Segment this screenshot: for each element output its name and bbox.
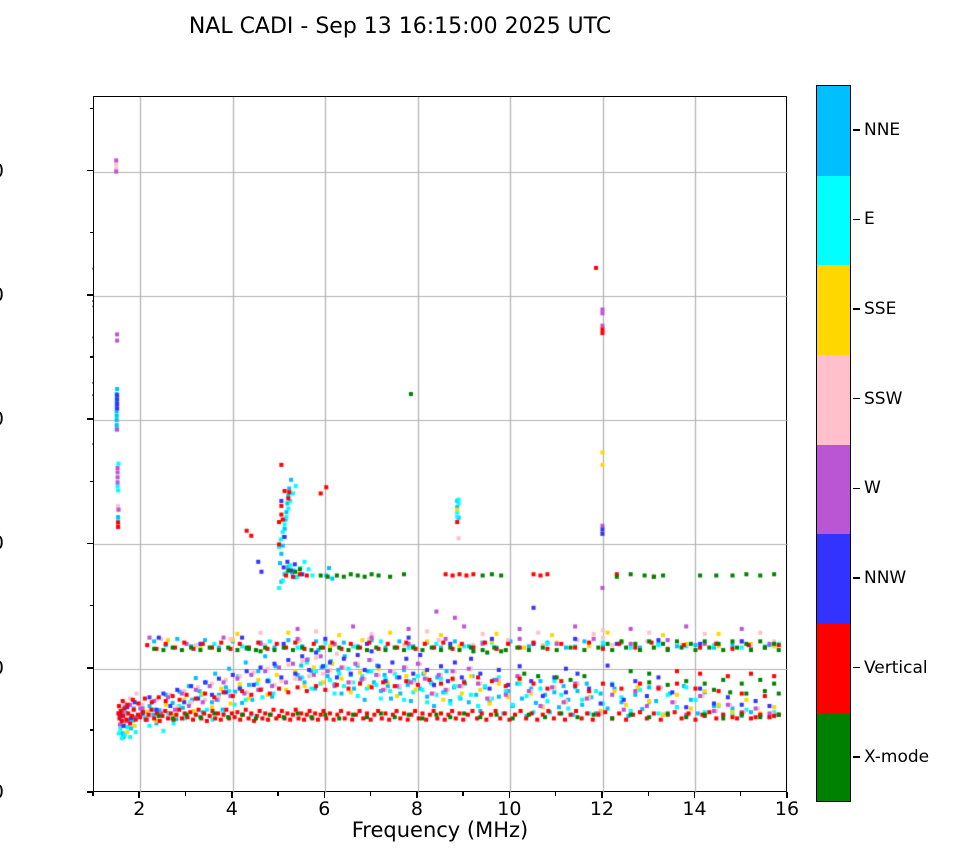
x-tick-minor (648, 792, 649, 796)
colorbar-tick (853, 129, 860, 131)
colorbar[interactable] (816, 85, 851, 802)
x-tick-mark (416, 792, 418, 798)
colorbar-label-e: E (864, 209, 875, 229)
x-tick-mark (601, 792, 603, 798)
x-tick-label: 2 (99, 798, 179, 820)
page-title: NAL CADI - Sep 13 16:15:00 2025 UTC (0, 14, 800, 39)
y-tick-label: 200 (0, 657, 4, 679)
colorbar-label-nne: NNE (864, 120, 900, 140)
colorbar-segment-e[interactable] (817, 176, 850, 266)
colorbar-segment-sse[interactable] (817, 265, 850, 355)
colorbar-tick (853, 756, 860, 758)
colorbar-label-nnw: NNW (864, 568, 906, 588)
x-tick-minor (185, 792, 186, 796)
colorbar-segment-nne[interactable] (817, 86, 850, 176)
colorbar-segment-x-mode[interactable] (817, 713, 850, 802)
colorbar-tick (853, 398, 860, 400)
x-tick-mark (786, 792, 788, 798)
colorbar-label-sse: SSE (864, 299, 896, 319)
y-tick-label: 1000 (0, 160, 4, 182)
x-tick-minor (92, 792, 93, 796)
ionogram-figure: NAL CADI - Sep 13 16:15:00 2025 UTC Virt… (0, 0, 958, 857)
x-tick-label: 16 (747, 798, 827, 820)
x-tick-minor (555, 792, 556, 796)
x-tick-minor (740, 792, 741, 796)
colorbar-segment-nnw[interactable] (817, 534, 850, 624)
x-tick-label: 6 (284, 798, 364, 820)
colorbar-tick (853, 219, 860, 221)
colorbar-segment-w[interactable] (817, 445, 850, 535)
x-tick-label: 12 (562, 798, 642, 820)
x-tick-mark (138, 792, 140, 798)
x-tick-label: 4 (192, 798, 272, 820)
colorbar-label-x-mode: X-mode (864, 747, 929, 767)
x-tick-mark (324, 792, 326, 798)
x-tick-minor (370, 792, 371, 796)
colorbar-tick (853, 577, 860, 579)
x-tick-minor (462, 792, 463, 796)
x-axis-label: Frequency (MHz) (93, 818, 787, 842)
y-tick-label: 0 (0, 781, 4, 803)
colorbar-segment-ssw[interactable] (817, 355, 850, 445)
x-tick-mark (231, 792, 233, 798)
x-tick-mark (694, 792, 696, 798)
y-tick-label: 400 (0, 532, 4, 554)
x-tick-label: 14 (654, 798, 734, 820)
x-tick-label: 8 (377, 798, 457, 820)
colorbar-tick (853, 667, 860, 669)
plot-area (93, 96, 787, 792)
colorbar-label-ssw: SSW (864, 389, 902, 409)
x-tick-label: 10 (469, 798, 549, 820)
scatter-canvas (94, 97, 788, 793)
x-tick-minor (277, 792, 278, 796)
y-tick-label: 600 (0, 408, 4, 430)
y-tick-label: 800 (0, 284, 4, 306)
x-tick-mark (509, 792, 511, 798)
colorbar-segment-vertical[interactable] (817, 624, 850, 714)
colorbar-tick (853, 488, 860, 490)
colorbar-tick (853, 308, 860, 310)
colorbar-label-w: W (864, 478, 881, 498)
colorbar-label-vertical: Vertical (864, 658, 928, 678)
